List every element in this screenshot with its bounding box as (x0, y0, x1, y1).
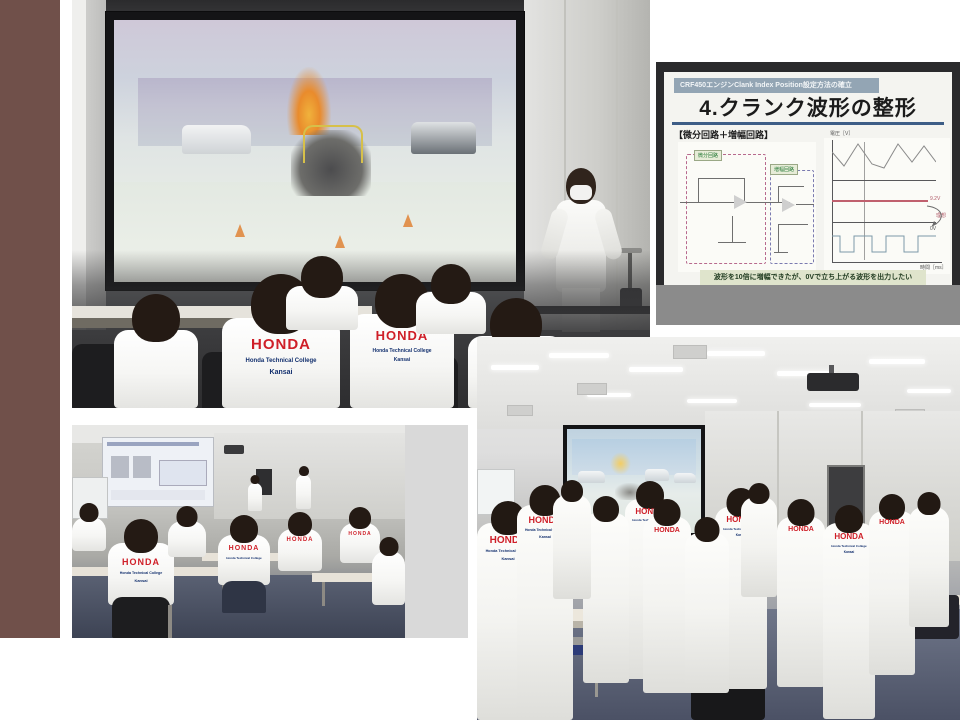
student-uniform: HONDA Honda Technical College Kansai (222, 318, 340, 408)
uniform-logo: HONDA (340, 531, 380, 537)
student-uniform (114, 330, 198, 408)
instructor-figure (296, 475, 311, 509)
gray-filler-block (405, 425, 468, 638)
graph-y-axis-label: 電圧［V］ (830, 130, 853, 137)
slide-photo-gray-band (656, 285, 960, 325)
uniform-line-2: Kansai (108, 578, 174, 583)
projection-screen-frame (106, 12, 524, 290)
student-jumpsuit: HONDA (777, 517, 825, 687)
circuit-diagram: 微分回路 増幅回路 (678, 142, 816, 272)
slide-header-band: CRF450エンジンClank Index Position設定方法の確立 (674, 78, 879, 93)
student-jumpsuit: HONDA Honda Technical College Kansai (823, 523, 875, 719)
differentiator-block (686, 154, 766, 264)
uniform-logo: HONDA (108, 557, 174, 567)
seated-classroom-photo[interactable]: HONDA Honda Technical College Kansai HON… (72, 425, 405, 638)
slide-title: 4.クランク波形の整形 (664, 92, 952, 122)
slide-sheet: CRF450エンジンClank Index Position設定方法の確立 4.… (664, 72, 952, 287)
uniform-logo: HONDA (278, 537, 322, 543)
uniform-line-1: Honda Technical College (222, 358, 340, 364)
projected-kart-rollbar (303, 125, 363, 164)
projected-sky (572, 439, 695, 474)
projection-screen (114, 20, 516, 282)
differentiator-label: 微分回路 (694, 150, 722, 161)
left-accent-bar (0, 0, 60, 638)
slide-caption-band: 波形を10倍に増幅できたが、0Vで立ち上がる波形を出力したい (700, 270, 926, 286)
projected-car-right (411, 122, 475, 153)
uniform-logo: HONDA (222, 336, 340, 353)
waveform-graph: 9.2V 0V 理想 電圧［V］ 時間［ms］ (824, 138, 950, 274)
uniform-line-1: Honda Technical College (108, 571, 174, 575)
uniform-line-2: Kansai (350, 357, 454, 363)
uniform-logo: HONDA (777, 526, 825, 533)
reference-line-9v (832, 200, 928, 202)
student-jumpsuit (741, 497, 777, 597)
amplifier-label: 増幅回路 (770, 164, 798, 175)
student-uniform: HONDA (278, 529, 322, 571)
triangle-wave-series (832, 142, 936, 176)
standing-classroom-photo[interactable]: HONDA Honda Technical College Kansai HON… (477, 337, 960, 720)
student-uniform: HONDA Honda Technical College Kansai (108, 543, 174, 605)
uniform-logo: HONDA (823, 532, 875, 541)
uniform-logo: HONDA (218, 545, 270, 552)
uniform-line-1: Honda Technical College (823, 544, 875, 548)
student-jumpsuit (909, 507, 949, 627)
slide-canvas: HONDA Honda Technical College Kansai HON… (0, 0, 960, 720)
amplifier-block (770, 170, 814, 264)
face-mask-icon (570, 185, 592, 200)
projected-car-left (182, 125, 250, 154)
ideal-arrow-icon (924, 202, 948, 230)
student-jumpsuit (553, 495, 591, 599)
slide-header-text: CRF450エンジンClank Index Position設定方法の確立 (674, 78, 879, 93)
student-jumpsuit: HONDA (643, 517, 691, 693)
uniform-line-1: Honda Technical College (350, 348, 454, 354)
projected-slide-photo[interactable]: CRF450エンジンClank Index Position設定方法の確立 4.… (656, 62, 960, 325)
projection-screen (102, 437, 214, 507)
uniform-line-1: Honda Technical College (218, 556, 270, 560)
student-uniform (286, 286, 358, 330)
square-wave-series (832, 230, 936, 256)
student-uniform (372, 551, 405, 605)
slide-section-label: 【微分回路＋増幅回路】 (674, 128, 773, 141)
uniform-line-2: Kansai (823, 550, 875, 554)
projected-flare (610, 452, 631, 475)
student-uniform (72, 517, 106, 551)
slide-caption-text: 波形を10倍に増幅できたが、0Vで立ち上がる波形を出力したい (700, 270, 926, 286)
uniform-line-2: Kansai (222, 369, 340, 376)
uniform-logo: HONDA (643, 527, 691, 534)
ceiling-projector (807, 373, 859, 391)
student-uniform: HONDA Honda Technical College (218, 535, 270, 585)
ceiling-projector (224, 445, 244, 454)
slide-title-rule (672, 122, 944, 125)
student-uniform (168, 521, 206, 557)
student-jumpsuit (685, 533, 729, 693)
instructor-figure (248, 483, 262, 511)
student-uniform (416, 292, 486, 334)
